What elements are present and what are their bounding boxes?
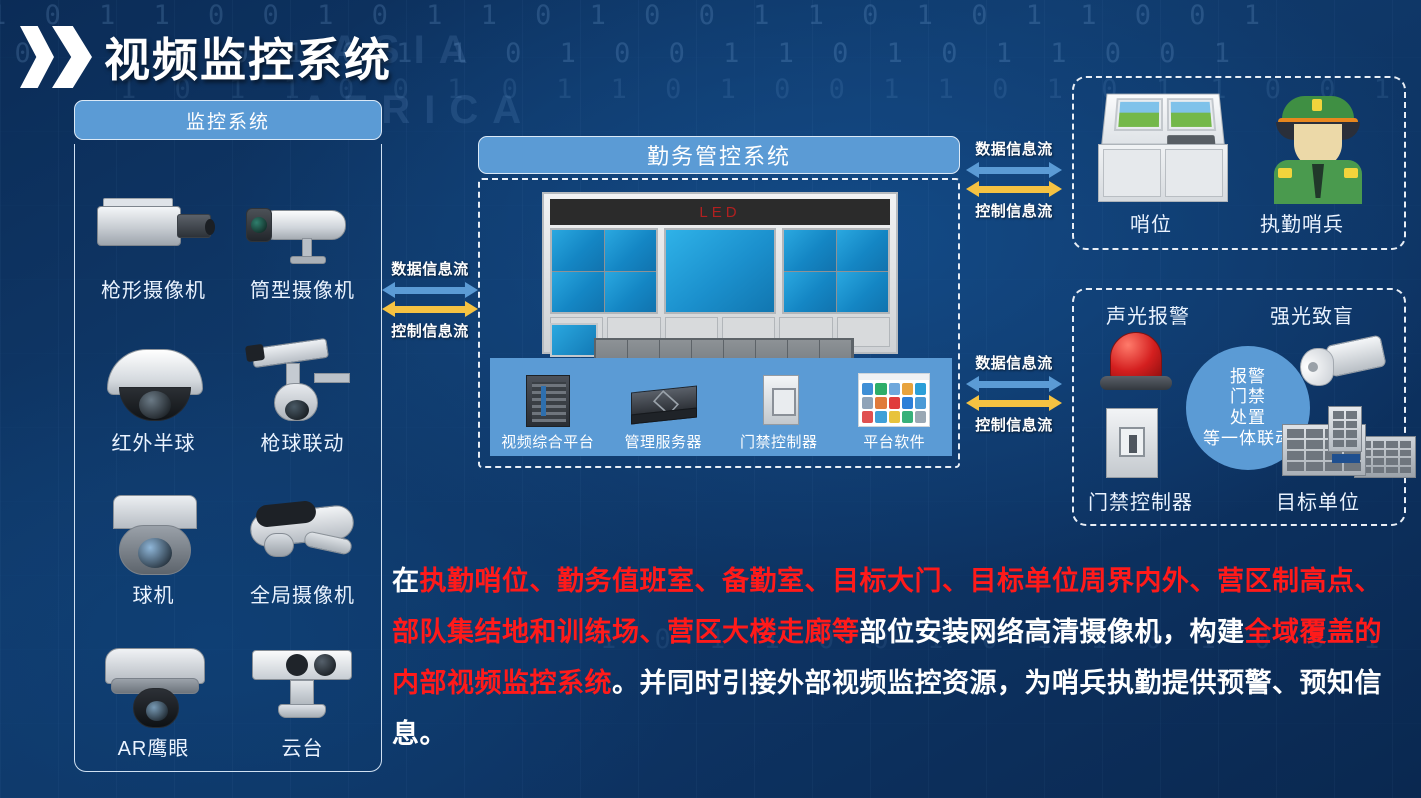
- camera-label: 球机: [133, 579, 175, 608]
- camera-label: 全局摄像机: [250, 579, 355, 608]
- bullet-camera-icon: [238, 180, 368, 272]
- hub-line: 等一体联动: [1203, 429, 1293, 450]
- data-flow-arrow-icon: [382, 282, 478, 298]
- data-flow-arrow-icon: [966, 376, 1062, 392]
- access-controller-icon: [741, 371, 817, 429]
- camera-item-pan-tilt[interactable]: 云台: [228, 608, 377, 761]
- management-server-icon: [625, 371, 701, 429]
- camera-item-panoramic[interactable]: 全局摄像机: [228, 456, 377, 609]
- flow-data-label: 数据信息流: [966, 138, 1062, 159]
- page-title: 视频监控系统: [104, 24, 392, 90]
- hub-line: 报警: [1230, 367, 1266, 388]
- paragraph-seg1: 在: [392, 566, 420, 596]
- camera-item-box[interactable]: 枪形摄像机: [79, 150, 228, 303]
- alarm-linkage-panel: 声光报警 强光致盲 门禁控制器 报警 门禁 处置 等一体联动 目标单位: [1072, 288, 1406, 526]
- access-controller-label: 门禁控制器: [1088, 486, 1193, 515]
- flow-control-label: 控制信息流: [382, 320, 478, 341]
- duty-control-system-panel: LED 视频综合平台 管理服务器: [478, 178, 960, 468]
- screen-grid-left: [550, 228, 658, 314]
- double-chevron-right-icon: [20, 26, 90, 88]
- camera-grid: 枪形摄像机 筒型摄像机 红外半球 枪球联动 球机: [74, 144, 382, 772]
- page-header: 视频监控系统: [20, 24, 392, 90]
- guard-console-icon: [1098, 92, 1226, 202]
- monitoring-system-panel: 监控系统 枪形摄像机 筒型摄像机 红外半球 枪球联动: [74, 100, 382, 772]
- video-wall: LED: [542, 192, 898, 354]
- equipment-item-platform-software[interactable]: 平台软件: [841, 371, 947, 452]
- equipment-item-management-server[interactable]: 管理服务器: [610, 371, 716, 452]
- ar-eagle-eye-camera-icon: [89, 638, 219, 730]
- camera-label: 枪形摄像机: [101, 274, 206, 303]
- camera-item-ar-eagle-eye[interactable]: AR鹰眼: [79, 608, 228, 761]
- camera-label: 红外半球: [112, 427, 196, 456]
- paragraph-seg3: 部位安装网络高清摄像机，构建: [860, 617, 1245, 647]
- speed-dome-camera-icon: [89, 485, 219, 577]
- equipment-label: 平台软件: [841, 431, 947, 452]
- alarm-beacon-icon: [1100, 332, 1172, 394]
- camera-label: AR鹰眼: [118, 732, 190, 761]
- sentry-post-panel: 哨位 执勤哨兵: [1072, 76, 1406, 250]
- flow-control-label: 控制信息流: [966, 414, 1062, 435]
- on-duty-sentry-icon: [1266, 94, 1370, 202]
- control-flow-arrow-icon: [966, 181, 1062, 197]
- flow-data-label: 数据信息流: [966, 352, 1062, 373]
- camera-item-dome[interactable]: 红外半球: [79, 303, 228, 456]
- equipment-label: 管理服务器: [610, 431, 716, 452]
- equipment-row: 视频综合平台 管理服务器 门禁控制器: [490, 360, 952, 456]
- equipment-label: 视频综合平台: [495, 431, 601, 452]
- hub-line: 处置: [1230, 408, 1266, 429]
- sentry-post-label: 哨位: [1130, 208, 1172, 237]
- flow-left: 数据信息流 控制信息流: [382, 258, 478, 341]
- dome-camera-icon: [89, 333, 219, 425]
- monitoring-system-panel-title: 监控系统: [74, 100, 382, 140]
- hub-line: 门禁: [1230, 387, 1266, 408]
- duty-control-system-title: 勤务管控系统: [478, 136, 960, 174]
- target-unit-label: 目标单位: [1276, 486, 1360, 515]
- flow-data-label: 数据信息流: [382, 258, 478, 279]
- equipment-item-access-controller[interactable]: 门禁控制器: [726, 371, 832, 452]
- camera-label: 枪球联动: [261, 427, 345, 456]
- chevron-right-icon: [52, 26, 92, 88]
- camera-label: 云台: [282, 732, 324, 761]
- box-camera-icon: [89, 180, 219, 272]
- data-flow-arrow-icon: [966, 162, 1062, 178]
- camera-item-bullet[interactable]: 筒型摄像机: [228, 150, 377, 303]
- flow-control-label: 控制信息流: [966, 200, 1062, 221]
- on-duty-sentry-label: 执勤哨兵: [1260, 208, 1344, 237]
- screen-main: [664, 228, 776, 314]
- camera-item-speed-dome[interactable]: 球机: [79, 456, 228, 609]
- access-controller-icon: [1106, 408, 1164, 482]
- panoramic-camera-icon: [238, 485, 368, 577]
- pan-tilt-camera-icon: [238, 638, 368, 730]
- camera-item-ptz-linkage[interactable]: 枪球联动: [228, 303, 377, 456]
- screen-grid-right: [782, 228, 890, 314]
- ptz-linkage-camera-icon: [238, 333, 368, 425]
- control-flow-arrow-icon: [966, 395, 1062, 411]
- platform-software-icon: [856, 371, 932, 429]
- chevron-right-icon: [20, 26, 54, 88]
- server-rack-icon: [510, 371, 586, 429]
- dazzle-light-icon: [1300, 338, 1390, 394]
- video-wall-screens: [550, 228, 890, 314]
- camera-label: 筒型摄像机: [250, 274, 355, 303]
- description-paragraph: 在执勤哨位、勤务值班室、备勤室、目标大门、目标单位周界内外、营区制高点、部队集结…: [392, 556, 1402, 760]
- led-banner: LED: [550, 199, 890, 225]
- equipment-label: 门禁控制器: [726, 431, 832, 452]
- control-flow-arrow-icon: [382, 301, 478, 317]
- target-unit-building-icon: [1282, 402, 1414, 486]
- dazzle-light-label: 强光致盲: [1270, 300, 1354, 329]
- flow-right-top: 数据信息流 控制信息流: [966, 138, 1062, 221]
- flow-right-bottom: 数据信息流 控制信息流: [966, 352, 1062, 435]
- equipment-item-video-platform[interactable]: 视频综合平台: [495, 371, 601, 452]
- audible-visual-alarm-label: 声光报警: [1106, 300, 1190, 329]
